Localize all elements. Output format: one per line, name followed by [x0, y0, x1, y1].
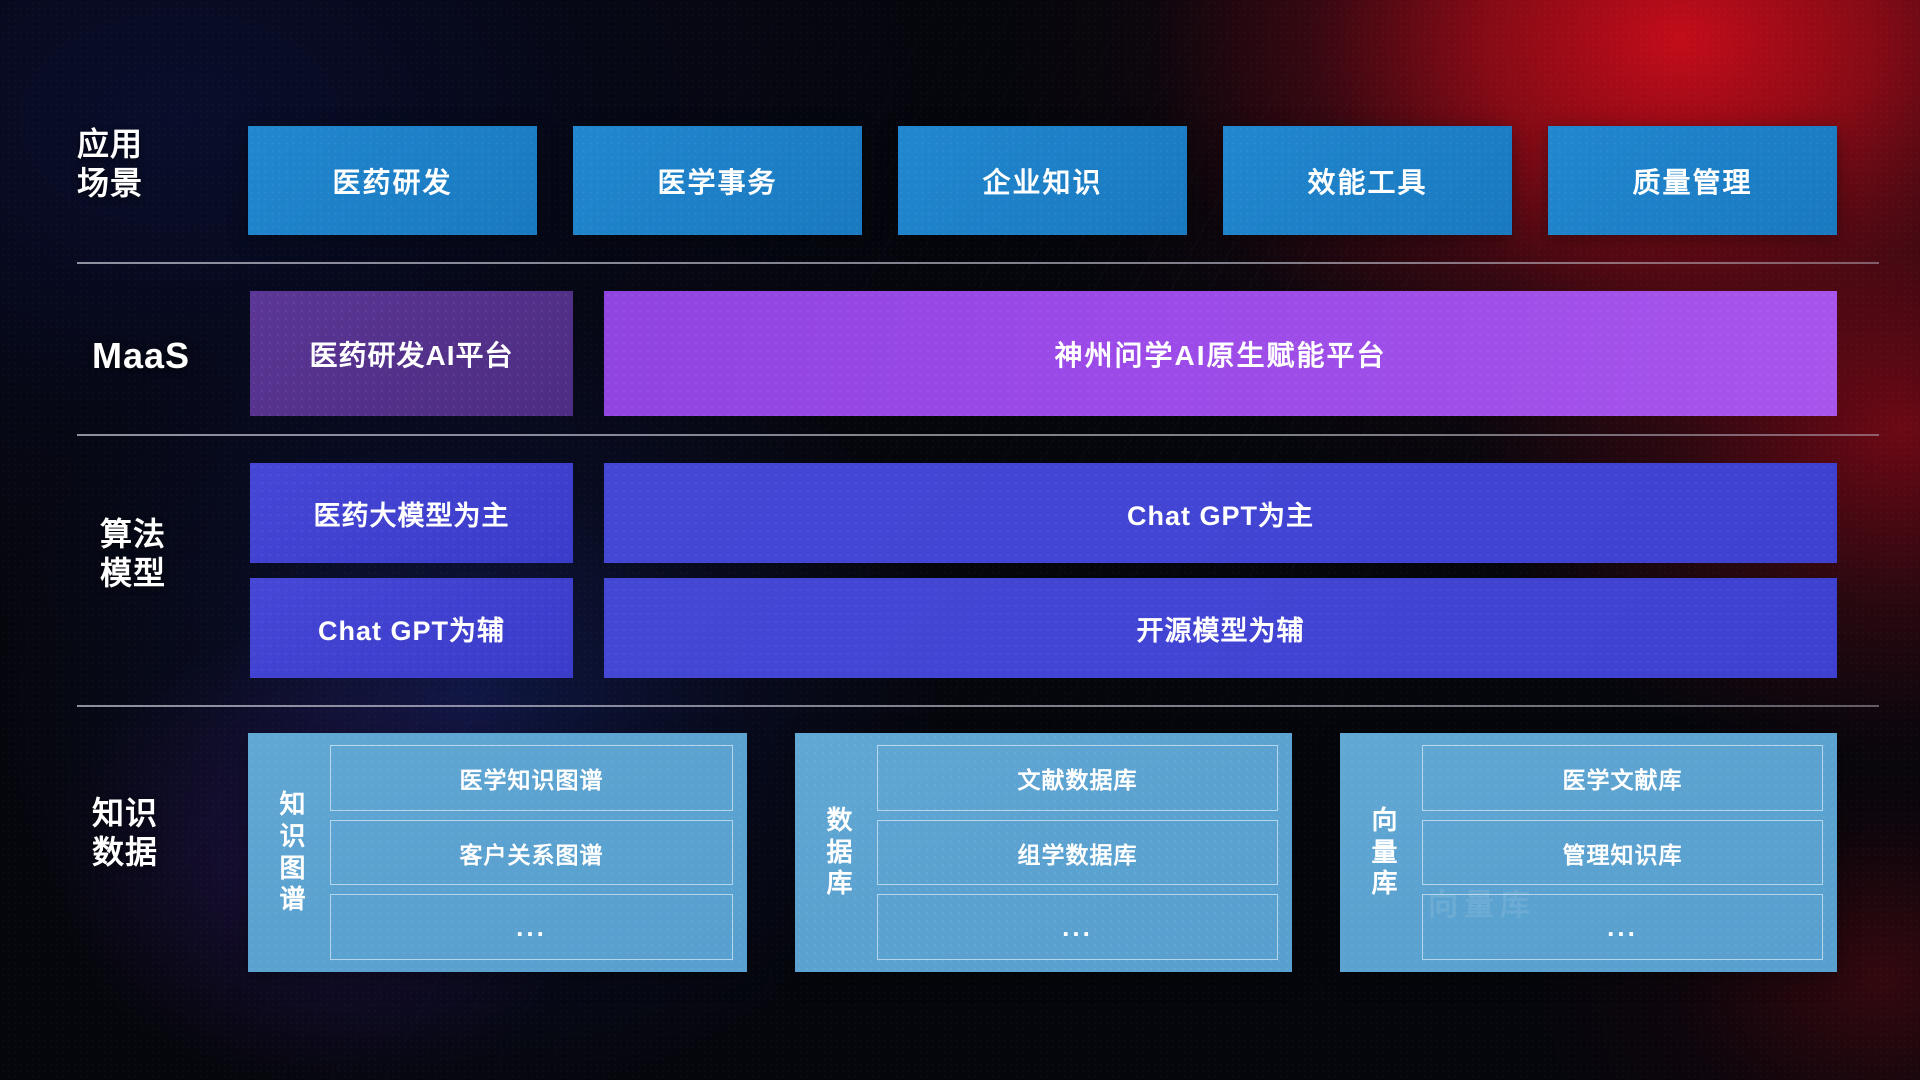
algo-cell-left-1-label: 医药大模型为主 — [314, 494, 510, 533]
knowledge-item-more[interactable]: ... — [1422, 894, 1823, 960]
knowledge-panel-vector[interactable]: 向 量 库 医学文献库 管理知识库 ... — [1340, 733, 1837, 972]
divider-algorithm-knowledge — [77, 705, 1879, 707]
knowledge-panel-graph-label: 知 识 图 谱 — [256, 789, 330, 916]
knowledge-item[interactable]: 文献数据库 — [877, 745, 1278, 811]
app-cell-5[interactable]: 质量管理 — [1548, 126, 1837, 235]
diagram-canvas: 应用 场景 医药研发 医学事务 企业知识 效能工具 质量管理 MaaS 医药研发… — [0, 0, 1920, 1080]
maas-platform-shenzhou[interactable]: 神州问学AI原生赋能平台 — [604, 291, 1837, 416]
app-cell-4[interactable]: 效能工具 — [1223, 126, 1512, 235]
knowledge-panel-graph-items: 医学知识图谱 客户关系图谱 ... — [330, 745, 733, 960]
algo-cell-left-1[interactable]: 医药大模型为主 — [250, 463, 573, 563]
row-label-application: 应用 场景 — [77, 125, 143, 203]
knowledge-item[interactable]: 医学知识图谱 — [330, 745, 733, 811]
app-cell-3[interactable]: 企业知识 — [898, 126, 1187, 235]
app-cell-2-label: 医学事务 — [657, 161, 777, 201]
app-cell-2[interactable]: 医学事务 — [573, 126, 862, 235]
algo-cell-left-2[interactable]: Chat GPT为辅 — [250, 578, 573, 678]
knowledge-item[interactable]: 组学数据库 — [877, 820, 1278, 886]
algo-cell-right-2-label: 开源模型为辅 — [1137, 609, 1305, 648]
row-label-knowledge: 知识 数据 — [92, 794, 158, 872]
knowledge-item[interactable]: 管理知识库 — [1422, 820, 1823, 886]
knowledge-item-more[interactable]: ... — [877, 894, 1278, 960]
maas-platform-shenzhou-label: 神州问学AI原生赋能平台 — [1054, 334, 1386, 374]
app-cell-3-label: 企业知识 — [982, 161, 1102, 201]
algo-cell-right-2[interactable]: 开源模型为辅 — [604, 578, 1837, 678]
divider-application-maas — [77, 262, 1879, 264]
row-label-algorithm: 算法 模型 — [100, 515, 166, 593]
knowledge-panel-vector-label: 向 量 库 — [1348, 805, 1422, 900]
app-cell-5-label: 质量管理 — [1632, 161, 1752, 201]
knowledge-panel-graph[interactable]: 知 识 图 谱 医学知识图谱 客户关系图谱 ... — [248, 733, 747, 972]
algo-cell-right-1[interactable]: Chat GPT为主 — [604, 463, 1837, 563]
knowledge-item[interactable]: 医学文献库 — [1422, 745, 1823, 811]
knowledge-item[interactable]: 客户关系图谱 — [330, 820, 733, 886]
row-label-maas: MaaS — [92, 334, 190, 378]
algo-cell-right-1-label: Chat GPT为主 — [1127, 494, 1314, 533]
app-cell-4-label: 效能工具 — [1307, 161, 1427, 201]
knowledge-panel-database-items: 文献数据库 组学数据库 ... — [877, 745, 1278, 960]
knowledge-panel-vector-items: 医学文献库 管理知识库 ... — [1422, 745, 1823, 960]
knowledge-panel-database[interactable]: 数 据 库 文献数据库 组学数据库 ... — [795, 733, 1292, 972]
maas-platform-medical-label: 医药研发AI平台 — [309, 334, 513, 374]
maas-platform-medical[interactable]: 医药研发AI平台 — [250, 291, 573, 416]
app-cell-1[interactable]: 医药研发 — [248, 126, 537, 235]
knowledge-item-more[interactable]: ... — [330, 894, 733, 960]
app-cell-1-label: 医药研发 — [332, 161, 452, 201]
knowledge-panel-database-label: 数 据 库 — [803, 805, 877, 900]
divider-maas-algorithm — [77, 434, 1879, 436]
algo-cell-left-2-label: Chat GPT为辅 — [318, 609, 505, 648]
